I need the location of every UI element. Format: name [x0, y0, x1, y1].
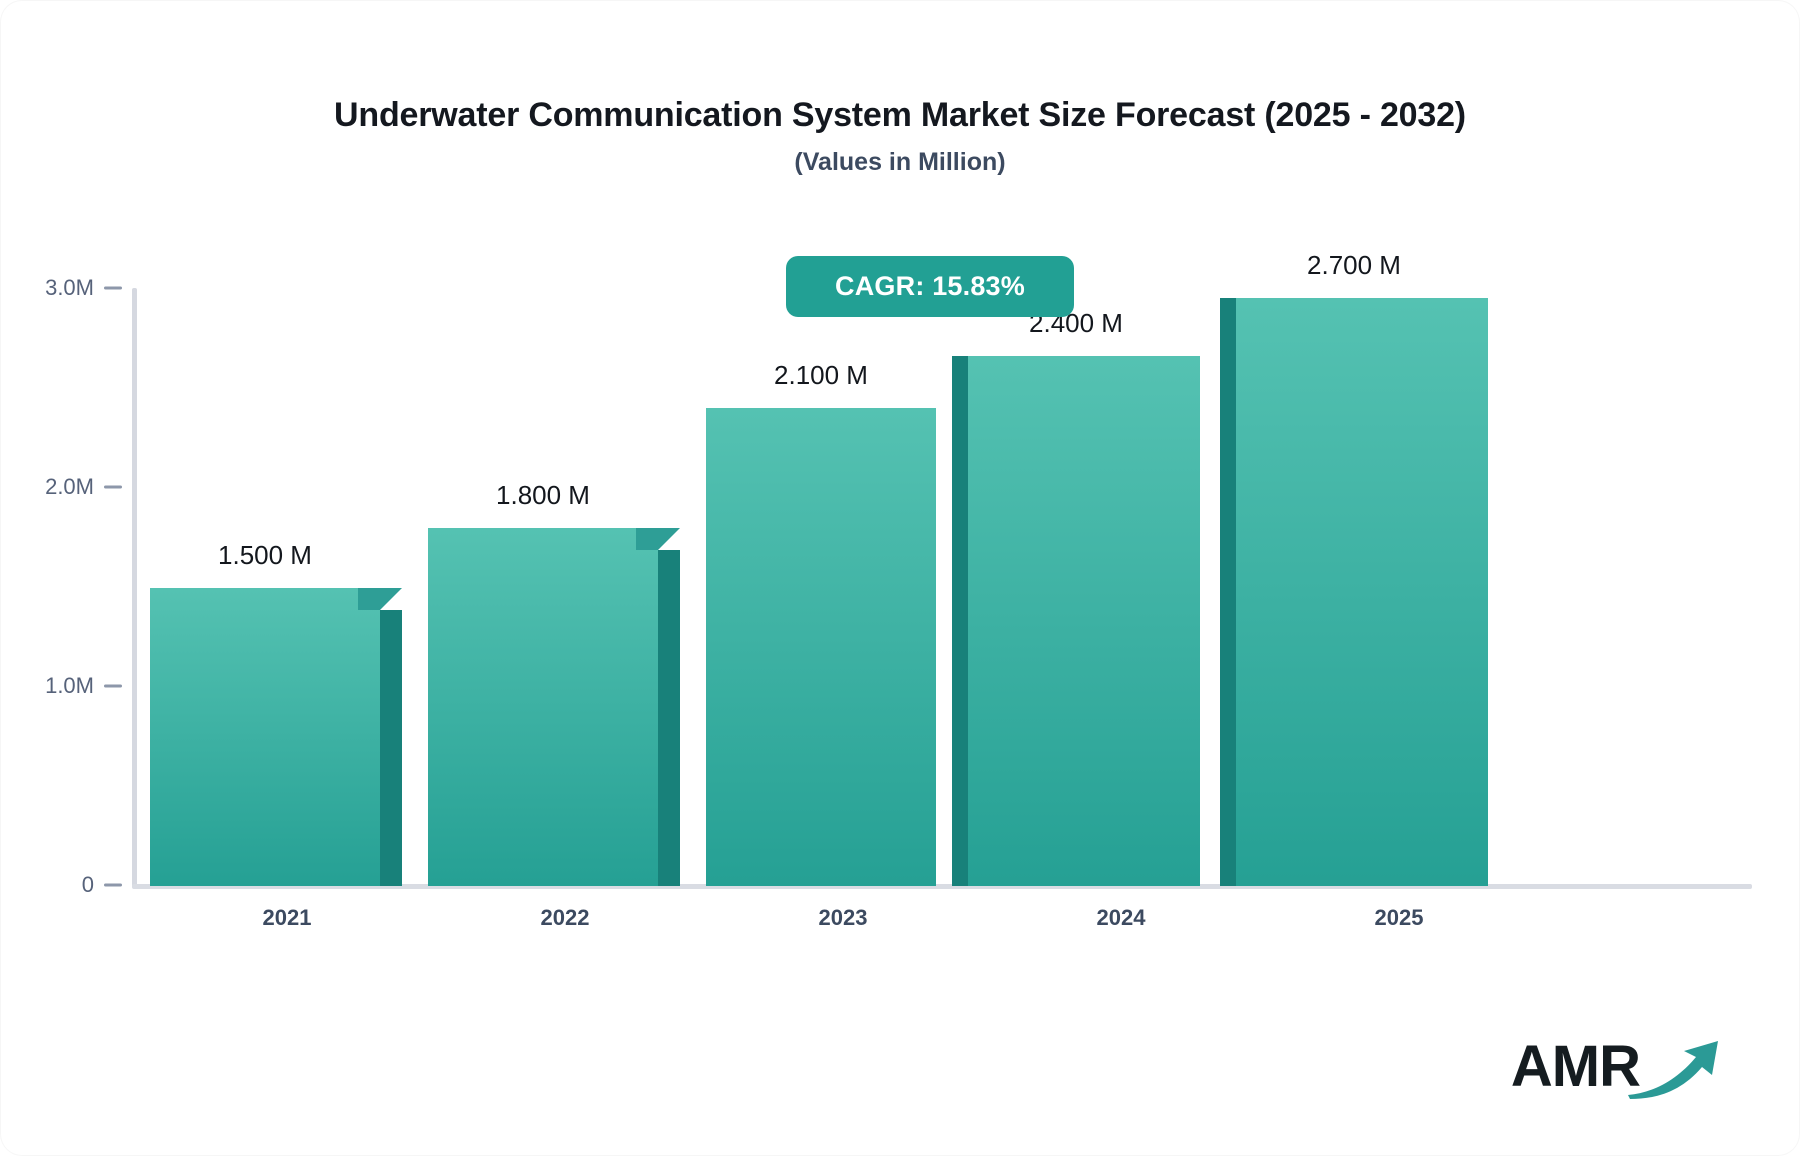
bar-value-label-2021: 1.500 M [218, 540, 312, 571]
bar-side-top-2022 [636, 528, 680, 572]
y-tick-label-1: 1.0M [0, 673, 94, 699]
bar-front-2025 [1236, 298, 1488, 886]
chart-card: Underwater Communication System Market S… [0, 0, 1800, 1156]
amr-logo: AMR [1511, 1030, 1722, 1104]
bar-front-2021 [150, 588, 380, 886]
bar-value-label-2025: 2.700 M [1307, 250, 1401, 281]
bar-leftshade-2024 [952, 356, 968, 886]
x-axis-label-2021: 2021 [263, 905, 312, 931]
bar-2022[interactable]: 1.800 M [428, 528, 658, 886]
plot-area: 1.500 M 1.800 M 2.100 M 2.400 M [132, 288, 1752, 886]
x-axis-label-2024: 2024 [1097, 905, 1146, 931]
x-axis-label-2022: 2022 [541, 905, 590, 931]
bar-2023[interactable]: 2.100 M [706, 408, 936, 886]
bar-value-label-2022: 1.800 M [496, 480, 590, 511]
y-tick-label-2: 2.0M [0, 474, 94, 500]
chart-title: Underwater Communication System Market S… [0, 96, 1800, 135]
y-tick-dash-3 [104, 287, 122, 290]
x-axis-label-2025: 2025 [1375, 905, 1424, 931]
bar-2025[interactable]: 2.700 M [1220, 298, 1488, 886]
bar-value-label-2023: 2.100 M [774, 360, 868, 391]
y-tick-dash-2 [104, 486, 122, 489]
bar-front-2024 [968, 356, 1200, 886]
bar-front-2023 [706, 408, 936, 886]
bar-2021[interactable]: 1.500 M [150, 588, 380, 886]
cagr-badge: CAGR: 15.83% [786, 256, 1074, 317]
growth-arrow-icon [1626, 1037, 1722, 1104]
bar-side-2022 [658, 550, 680, 886]
y-tick-dash-1 [104, 685, 122, 688]
y-tick-label-0: 0 [0, 872, 94, 898]
chart-subtitle: (Values in Million) [0, 148, 1800, 177]
bar-front-2022 [428, 528, 658, 886]
bar-side-2021 [380, 610, 402, 886]
bar-leftshade-2025 [1220, 298, 1236, 886]
x-axis-label-2023: 2023 [819, 905, 868, 931]
y-tick-dash-0 [104, 884, 122, 887]
bar-2024[interactable]: 2.400 M [952, 356, 1200, 886]
amr-logo-text: AMR [1511, 1038, 1640, 1096]
bar-side-top-2021 [358, 588, 402, 632]
y-tick-label-3: 3.0M [0, 275, 94, 301]
chart-canvas: Underwater Communication System Market S… [0, 0, 1800, 1156]
